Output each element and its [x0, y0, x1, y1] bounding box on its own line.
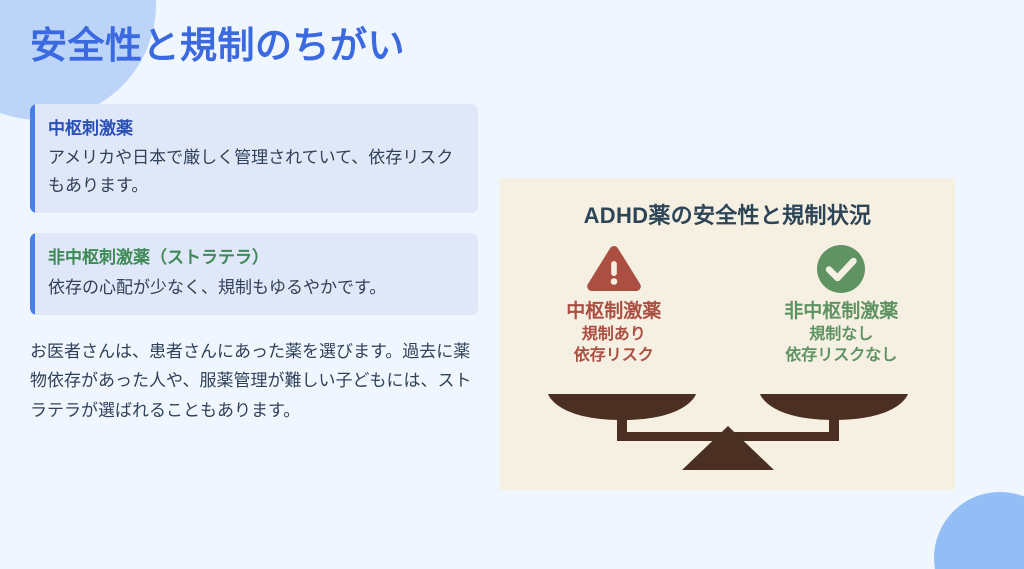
info-card-body: 依存の心配が少なく、規制もゆるやかです。 [48, 274, 462, 302]
balance-scale-illustration [500, 386, 955, 476]
info-card-stimulant: 中枢刺激薬 アメリカや日本で厳しく管理されていて、依存リスクもあります。 [30, 104, 478, 214]
warning-triangle-icon [500, 244, 728, 294]
slide-canvas: 安全性と規制のちがい 中枢刺激薬 アメリカや日本で厳しく管理されていて、依存リス… [0, 0, 1024, 569]
figure-columns: 中枢制激薬 規制あり 依存リスク 非中枢制激薬 規制なし 依存リスクなし [500, 244, 955, 367]
figure-label: 中枢制激薬 [500, 300, 728, 324]
info-card-heading: 中枢刺激薬 [48, 116, 462, 142]
figure-title: ADHD薬の安全性と規制状況 [500, 198, 955, 230]
left-content-column: 安全性と規制のちがい 中枢刺激薬 アメリカや日本で厳しく管理されていて、依存リス… [30, 24, 478, 442]
figure-sub-line: 規制なし [728, 324, 956, 346]
card-accent-bar [30, 104, 35, 214]
closing-note-paragraph: お医者さんは、患者さんにあった薬を選びます。過去に薬物依存があった人や、服薬管理… [30, 337, 478, 425]
card-accent-bar [30, 233, 35, 315]
figure-sub-line: 規制あり [500, 324, 728, 346]
check-circle-icon [728, 244, 956, 294]
figure-sub-line: 依存リスクなし [728, 345, 956, 367]
figure-panel: ADHD薬の安全性と規制状況 中枢制激薬 規制あり 依存リスク [500, 178, 955, 490]
page-title: 安全性と規制のちがい [30, 24, 478, 68]
figure-label: 非中枢制激薬 [728, 300, 956, 324]
info-card-body: アメリカや日本で厳しく管理されていて、依存リスクもあります。 [48, 144, 462, 199]
info-card-heading: 非中枢刺激薬（ストラテラ） [48, 245, 462, 271]
bottom-right-circle-decoration [934, 492, 1024, 569]
figure-column-stimulant: 中枢制激薬 規制あり 依存リスク [500, 244, 728, 367]
figure-column-non-stimulant: 非中枢制激薬 規制なし 依存リスクなし [728, 244, 956, 367]
info-card-non-stimulant: 非中枢刺激薬（ストラテラ） 依存の心配が少なく、規制もゆるやかです。 [30, 233, 478, 315]
figure-sub-line: 依存リスク [500, 345, 728, 367]
